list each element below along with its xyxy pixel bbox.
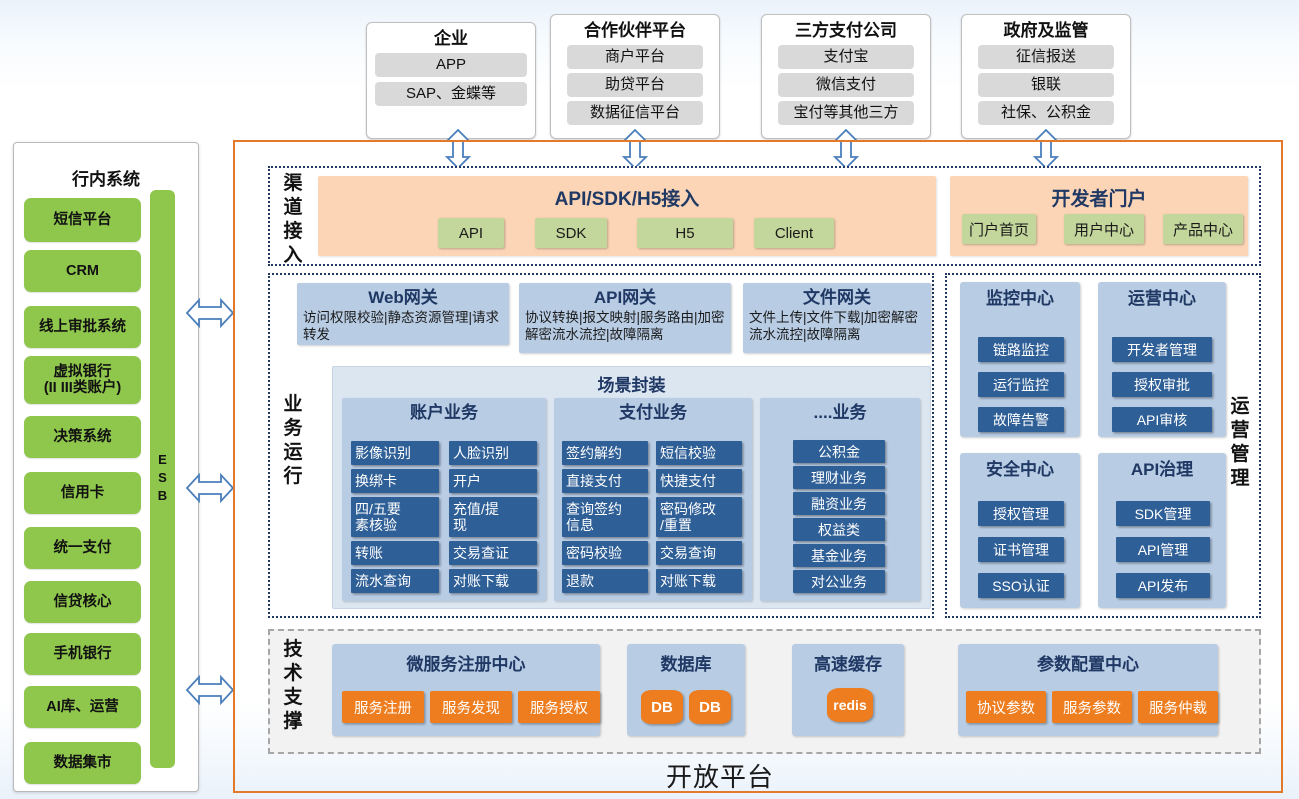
- tech-card-title: 高速缓存: [792, 644, 904, 675]
- scene-item-label-line2: 素核验: [355, 517, 397, 533]
- scene-item-open-account[interactable]: 开户: [449, 469, 537, 493]
- ops-card-title: 安全中心: [960, 453, 1080, 481]
- scene-item-label-line2: 信息: [566, 517, 594, 533]
- tech-item-db-2[interactable]: DB: [689, 690, 731, 724]
- internal-system-decision[interactable]: 决策系统: [24, 416, 141, 458]
- scene-item-element-verify[interactable]: 四/五要 素核验: [351, 497, 439, 537]
- scene-item-password-change[interactable]: 密码修改 /重置: [656, 497, 742, 537]
- ops-item-auth-management[interactable]: 授权管理: [978, 501, 1064, 526]
- internal-system-virtual-bank[interactable]: 虚拟银行 (II III类账户): [24, 356, 141, 404]
- scene-item-refund[interactable]: 退款: [562, 569, 648, 593]
- internal-system-sms-platform[interactable]: 短信平台: [24, 198, 141, 242]
- internal-system-credit-card[interactable]: 信用卡: [24, 472, 141, 514]
- scene-item-financing[interactable]: 融资业务: [793, 492, 885, 515]
- external-party-item[interactable]: APP: [375, 53, 527, 77]
- tech-item-protocol-params[interactable]: 协议参数: [966, 691, 1046, 723]
- ops-item-api-management[interactable]: API管理: [1116, 537, 1210, 562]
- external-party-third-party-payment[interactable]: 三方支付公司 支付宝 微信支付 宝付等其他三方: [761, 14, 931, 139]
- scene-item-topup-withdraw[interactable]: 充值/提 现: [449, 497, 537, 537]
- ops-item-auth-approval[interactable]: 授权审批: [1112, 372, 1212, 397]
- portal-chip-product-center[interactable]: 产品中心: [1163, 214, 1243, 244]
- api-sdk-h5-band: API/SDK/H5接入: [318, 176, 936, 256]
- scene-item-label-line2: 现: [453, 517, 467, 533]
- scene-item-sms-verify[interactable]: 短信校验: [656, 441, 742, 465]
- scene-item-label-line1: 查询签约: [566, 501, 622, 517]
- ops-item-runtime-monitoring[interactable]: 运行监控: [978, 372, 1064, 397]
- scene-item-wealth[interactable]: 理财业务: [793, 466, 885, 489]
- scene-item-reconcile-download-2[interactable]: 对账下载: [656, 569, 742, 593]
- internal-systems-title: 行内系统: [14, 165, 198, 190]
- channel-access-label: 渠道接入: [281, 172, 305, 268]
- tech-support-label: 技术支撑: [281, 638, 305, 734]
- external-party-title: 合作伙伴平台: [584, 20, 686, 42]
- external-party-enterprise[interactable]: 企业 APP SAP、金蝶等: [366, 22, 536, 139]
- ops-card-title: 监控中心: [960, 282, 1080, 310]
- scene-item-quick-payment[interactable]: 快捷支付: [656, 469, 742, 493]
- internal-system-data-mart[interactable]: 数据集市: [24, 742, 141, 784]
- open-platform-title: 开放平台: [560, 757, 880, 794]
- scene-group-title: ....业务: [760, 398, 920, 425]
- ops-item-sdk-management[interactable]: SDK管理: [1116, 501, 1210, 526]
- channel-chip-sdk[interactable]: SDK: [535, 218, 607, 248]
- gateway-api[interactable]: API网关 协议转换|报文映射|服务路由|加密解密流水流控|故障隔离: [519, 283, 731, 353]
- tech-card-title: 参数配置中心: [958, 644, 1218, 675]
- scene-item-rebind-card[interactable]: 换绑卡: [351, 469, 439, 493]
- scene-item-fund-business[interactable]: 基金业务: [793, 544, 885, 567]
- scene-item-password-verify[interactable]: 密码校验: [562, 541, 648, 565]
- internal-system-label-line1: 虚拟银行: [54, 364, 112, 380]
- ops-item-api-publish[interactable]: API发布: [1116, 573, 1210, 598]
- scene-item-image-recognition[interactable]: 影像识别: [351, 441, 439, 465]
- gateway-title: Web网关: [303, 287, 503, 309]
- business-run-label: 业务运行: [281, 393, 305, 489]
- external-party-item[interactable]: 微信支付: [778, 73, 914, 97]
- portal-chip-user-center[interactable]: 用户中心: [1064, 214, 1144, 244]
- gateway-web[interactable]: Web网关 访问权限校验|静态资源管理|请求转发: [297, 283, 509, 345]
- internal-system-unified-payment[interactable]: 统一支付: [24, 527, 141, 569]
- scene-item-query-sign-info[interactable]: 查询签约 信息: [562, 497, 648, 537]
- external-party-government-regulator[interactable]: 政府及监管 征信报送 银联 社保、公积金: [961, 14, 1131, 139]
- scene-item-label-line2: /重置: [660, 517, 692, 533]
- internal-system-online-approval[interactable]: 线上审批系统: [24, 306, 141, 348]
- external-party-item[interactable]: 征信报送: [978, 45, 1114, 69]
- developer-portal-title: 开发者门户: [950, 184, 1248, 211]
- external-party-item[interactable]: 宝付等其他三方: [778, 101, 914, 125]
- ops-item-certificate-management[interactable]: 证书管理: [978, 537, 1064, 562]
- scene-item-direct-payment[interactable]: 直接支付: [562, 469, 648, 493]
- scene-item-statement-query[interactable]: 流水查询: [351, 569, 439, 593]
- api-sdk-h5-title: API/SDK/H5接入: [318, 184, 936, 211]
- ops-card-title: API治理: [1098, 453, 1226, 481]
- external-party-item[interactable]: 银联: [978, 73, 1114, 97]
- esb-link-arrow-top: [185, 295, 235, 331]
- external-party-title: 企业: [434, 28, 468, 50]
- portal-chip-home[interactable]: 门户首页: [962, 214, 1036, 244]
- esb-link-arrow-bottom: [185, 672, 235, 708]
- tech-card-title: 微服务注册中心: [332, 644, 600, 675]
- external-party-item[interactable]: 支付宝: [778, 45, 914, 69]
- channel-chip-h5[interactable]: H5: [637, 218, 733, 248]
- external-party-partner-platform[interactable]: 合作伙伴平台 商户平台 助贷平台 数据征信平台: [550, 14, 720, 139]
- ops-management-label: 运营管理: [1228, 395, 1252, 491]
- scene-item-reconcile-download[interactable]: 对账下载: [449, 569, 537, 593]
- tech-item-service-arbitration[interactable]: 服务仲裁: [1138, 691, 1218, 723]
- ops-item-fault-alarm[interactable]: 故障告警: [978, 407, 1064, 432]
- gateway-desc: 协议转换|报文映射|服务路由|加密解密流水流控|故障隔离: [525, 309, 725, 343]
- esb-label: ESB: [154, 452, 171, 506]
- scene-item-rights[interactable]: 权益类: [793, 518, 885, 541]
- ops-item-sso-auth[interactable]: SSO认证: [978, 573, 1064, 598]
- scene-item-sign-unsign[interactable]: 签约解约: [562, 441, 648, 465]
- tech-item-db-1[interactable]: DB: [641, 690, 683, 724]
- external-party-item[interactable]: 数据征信平台: [567, 101, 703, 125]
- scene-encapsulation-title: 场景封装: [333, 367, 930, 396]
- internal-system-crm[interactable]: CRM: [24, 250, 141, 292]
- tech-item-service-register[interactable]: 服务注册: [342, 691, 424, 723]
- scene-item-transaction-verify[interactable]: 交易查证: [449, 541, 537, 565]
- scene-item-transaction-query[interactable]: 交易查询: [656, 541, 742, 565]
- external-party-item[interactable]: 社保、公积金: [978, 101, 1114, 125]
- ops-item-developer-management[interactable]: 开发者管理: [1112, 337, 1212, 362]
- gateway-desc: 访问权限校验|静态资源管理|请求转发: [303, 309, 503, 343]
- scene-item-corporate[interactable]: 对公业务: [793, 570, 885, 593]
- scene-item-label-line1: 密码修改: [660, 501, 716, 517]
- scene-group-title: 支付业务: [554, 398, 752, 425]
- scene-item-label-line1: 充值/提: [453, 501, 499, 517]
- external-party-item[interactable]: SAP、金蝶等: [375, 82, 527, 106]
- gateway-desc: 文件上传|文件下载|加密解密流水流控|故障隔离: [749, 309, 925, 343]
- scene-group-title: 账户业务: [342, 398, 546, 425]
- gateway-file[interactable]: 文件网关 文件上传|文件下载|加密解密流水流控|故障隔离: [743, 283, 931, 353]
- channel-chip-api[interactable]: API: [438, 218, 504, 248]
- internal-system-mobile-bank[interactable]: 手机银行: [24, 633, 141, 675]
- scene-item-face-recognition[interactable]: 人脸识别: [449, 441, 537, 465]
- internal-system-ai-operations[interactable]: AI库、运营: [24, 686, 141, 728]
- external-party-item[interactable]: 助贷平台: [567, 73, 703, 97]
- external-party-title: 三方支付公司: [795, 20, 897, 42]
- ops-item-link-monitoring[interactable]: 链路监控: [978, 337, 1064, 362]
- ops-item-api-review[interactable]: API审核: [1112, 407, 1212, 432]
- tech-item-service-discovery[interactable]: 服务发现: [430, 691, 512, 723]
- channel-chip-client[interactable]: Client: [754, 218, 834, 248]
- gateway-title: 文件网关: [749, 287, 925, 309]
- tech-item-redis[interactable]: redis: [827, 688, 873, 722]
- scene-item-label-line1: 四/五要: [355, 501, 401, 517]
- tech-item-service-params[interactable]: 服务参数: [1052, 691, 1132, 723]
- external-party-item[interactable]: 商户平台: [567, 45, 703, 69]
- tech-item-service-authorize[interactable]: 服务授权: [518, 691, 600, 723]
- external-party-title: 政府及监管: [1004, 20, 1089, 42]
- ops-card-title: 运营中心: [1098, 282, 1226, 310]
- tech-card-title: 数据库: [627, 644, 745, 675]
- internal-system-label-line2: (II III类账户): [44, 380, 121, 396]
- esb-link-arrow-middle: [185, 470, 235, 506]
- gateway-title: API网关: [525, 287, 725, 309]
- internal-system-credit-core[interactable]: 信贷核心: [24, 581, 141, 623]
- esb-bus[interactable]: ESB: [150, 190, 175, 768]
- scene-item-transfer[interactable]: 转账: [351, 541, 439, 565]
- scene-item-housing-fund[interactable]: 公积金: [793, 440, 885, 463]
